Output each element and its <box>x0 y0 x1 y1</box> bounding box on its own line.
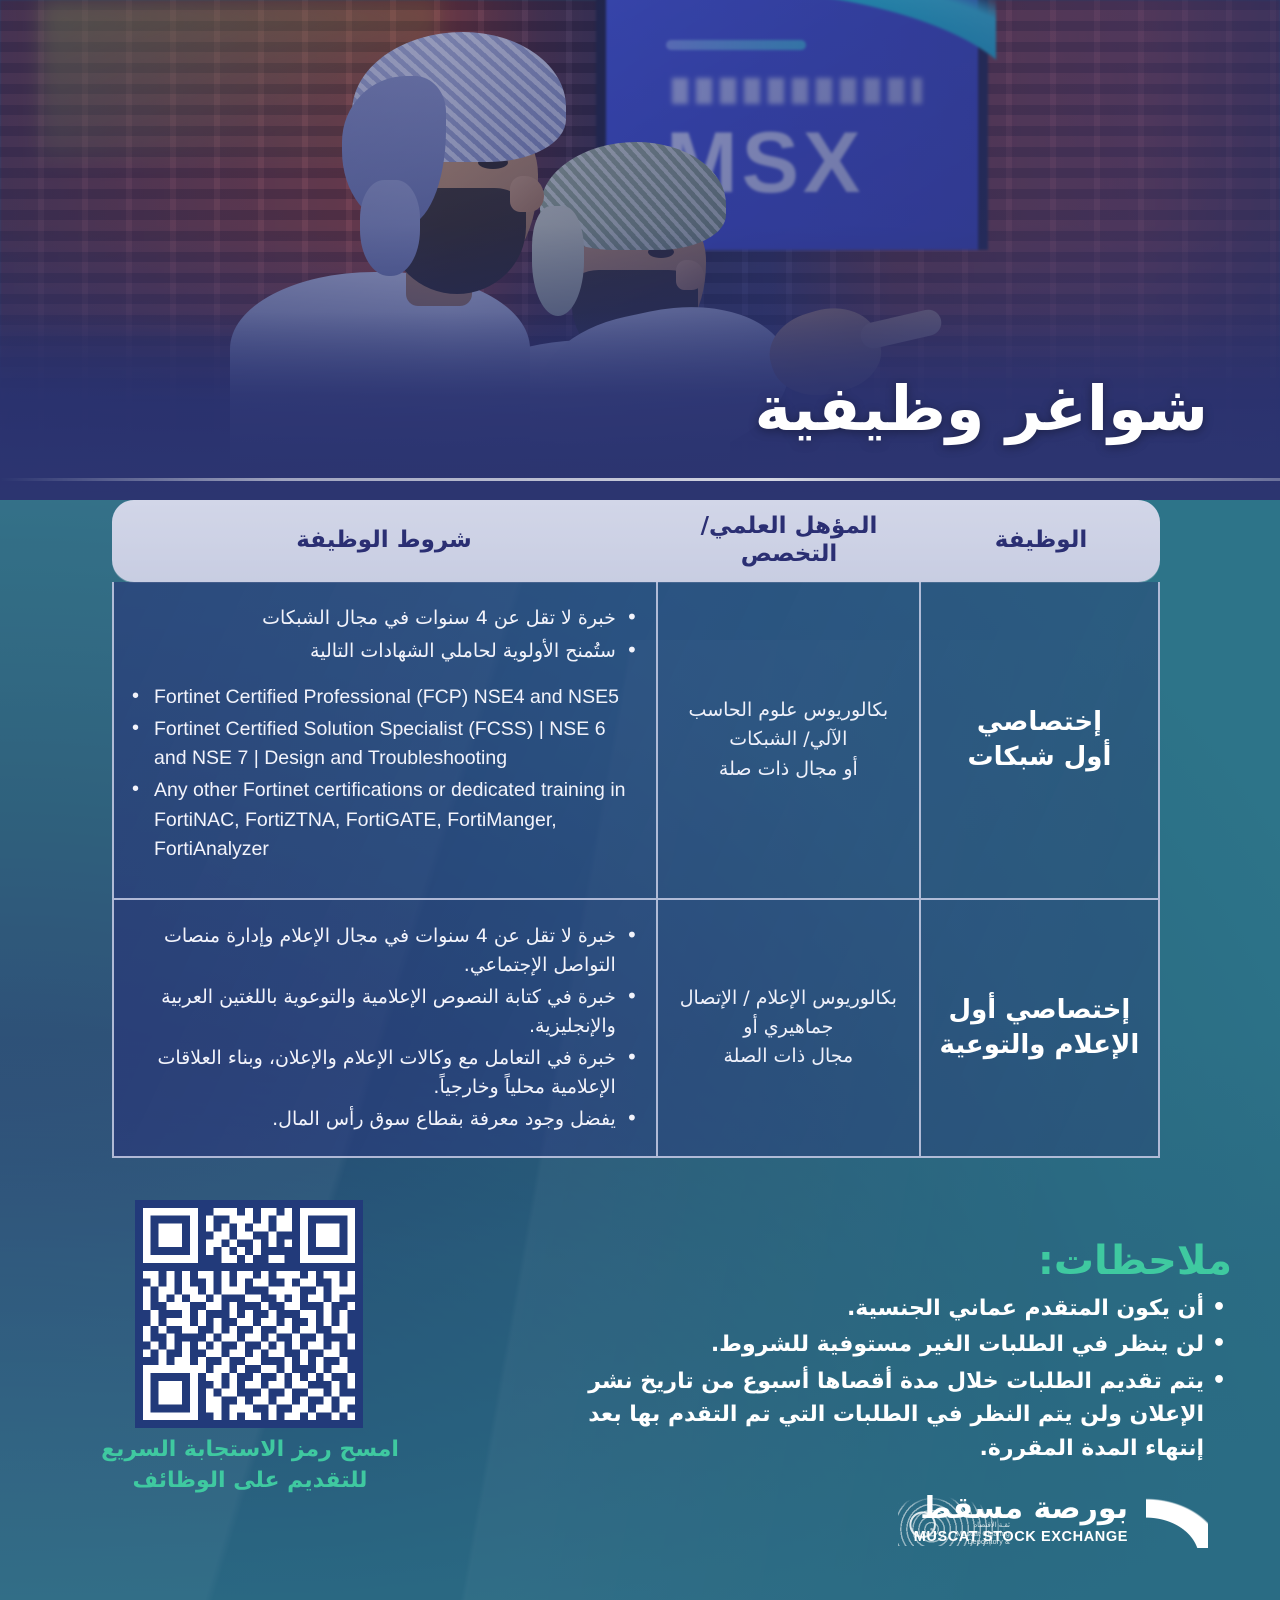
job-title-text: إختصاصي أولالإعلام والتوعية <box>940 993 1140 1063</box>
table-header-job: الوظيفة <box>922 527 1160 555</box>
list-item: Any other Fortinet certifications or ded… <box>128 776 642 865</box>
page-title: شواغر وظيفية <box>755 372 1208 445</box>
logo-arabic-name: بورصة مسقط <box>914 1494 1128 1524</box>
qr-caption-line1: امسح رمز الاستجابة السريع <box>90 1434 410 1465</box>
list-item: خبرة لا تقل عن 4 سنوات في مجال الشبكات <box>128 604 642 633</box>
poster-canvas: MSX <box>0 0 1280 1600</box>
list-item: خبرة في كتابة النصوص الإعلامية والتوعوية… <box>128 983 642 1040</box>
job-title-text: إختصاصيأول شبكات <box>968 705 1112 775</box>
table-body: إختصاصيأول شبكات بكالوريوس علوم الحاسب ا… <box>112 582 1160 1158</box>
list-item: لن ينظر في الطلبات الغير مستوفية للشروط. <box>552 1328 1232 1361</box>
conditions-list-ar: خبرة لا تقل عن 4 سنوات في مجال الشبكات س… <box>128 604 642 665</box>
table-cell-conditions: خبرة لا تقل عن 4 سنوات في مجال الشبكات س… <box>114 582 656 898</box>
list-item: Fortinet Certified Solution Specialist (… <box>128 715 642 774</box>
table-row: إختصاصيأول شبكات بكالوريوس علوم الحاسب ا… <box>112 582 1160 900</box>
title-divider <box>0 478 1280 481</box>
table-cell-qualification: بكالوريوس الإعلام / الإتصال جماهيري أومج… <box>656 900 921 1156</box>
list-item: يفضل وجود معرفة بقطاع سوق رأس المال. <box>128 1105 642 1134</box>
logo-text-block: بورصة مسقط MUSCAT STOCK EXCHANGE <box>914 1494 1128 1545</box>
qr-code-icon <box>135 1200 363 1428</box>
qualification-text: بكالوريوس الإعلام / الإتصال جماهيري أومج… <box>672 984 905 1072</box>
muscat-stock-exchange-logo: بورصة مسقط MUSCAT STOCK EXCHANGE <box>914 1490 1208 1548</box>
vacancies-table: الوظيفة المؤهل العلمي/ التخصص شروط الوظي… <box>112 500 1160 1158</box>
notes-list: أن يكون المتقدم عماني الجنسية. لن ينظر ف… <box>552 1292 1232 1465</box>
list-item: أن يكون المتقدم عماني الجنسية. <box>552 1292 1232 1325</box>
table-cell-job: إختصاصي أولالإعلام والتوعية <box>921 900 1158 1156</box>
qr-caption: امسح رمز الاستجابة السريع للتقديم على ال… <box>90 1434 410 1496</box>
qualification-text: بكالوريوس علوم الحاسب الآلي/ الشبكاتأو م… <box>672 696 905 784</box>
list-item: خبرة في التعامل مع وكالات الإعلام والإعل… <box>128 1044 642 1101</box>
logo-english-name: MUSCAT STOCK EXCHANGE <box>914 1529 1128 1545</box>
table-header-row: الوظيفة المؤهل العلمي/ التخصص شروط الوظي… <box>112 500 1160 582</box>
table-row: إختصاصي أولالإعلام والتوعية بكالوريوس ال… <box>112 900 1160 1158</box>
list-item: يتم تقديم الطلبات خلال مدة أقصاها أسبوع … <box>552 1365 1232 1465</box>
table-cell-qualification: بكالوريوس علوم الحاسب الآلي/ الشبكاتأو م… <box>656 582 921 898</box>
msx-swoosh-logo-icon <box>1146 1490 1208 1548</box>
list-item: ستُمنح الأولوية لحاملي الشهادات التالية <box>128 637 642 666</box>
table-header-qualification: المؤهل العلمي/ التخصص <box>656 513 922 568</box>
qr-code[interactable] <box>135 1200 363 1428</box>
table-cell-conditions: خبرة لا تقل عن 4 سنوات في مجال الإعلام و… <box>114 900 656 1156</box>
conditions-spacer <box>128 669 642 683</box>
qr-caption-line2: للتقديم على الوظائف <box>90 1465 410 1496</box>
notes-heading: ملاحظات: <box>552 1238 1232 1284</box>
conditions-list-en: Fortinet Certified Professional (FCP) NS… <box>128 683 642 865</box>
conditions-list-ar: خبرة لا تقل عن 4 سنوات في مجال الإعلام و… <box>128 922 642 1138</box>
list-item: خبرة لا تقل عن 4 سنوات في مجال الإعلام و… <box>128 922 642 979</box>
list-item: Fortinet Certified Professional (FCP) NS… <box>128 683 642 713</box>
table-header-conditions: شروط الوظيفة <box>112 527 656 555</box>
swoosh-shape-icon <box>1146 1490 1208 1548</box>
notes-section: ملاحظات: أن يكون المتقدم عماني الجنسية. … <box>552 1238 1232 1468</box>
table-cell-job: إختصاصيأول شبكات <box>921 582 1158 898</box>
